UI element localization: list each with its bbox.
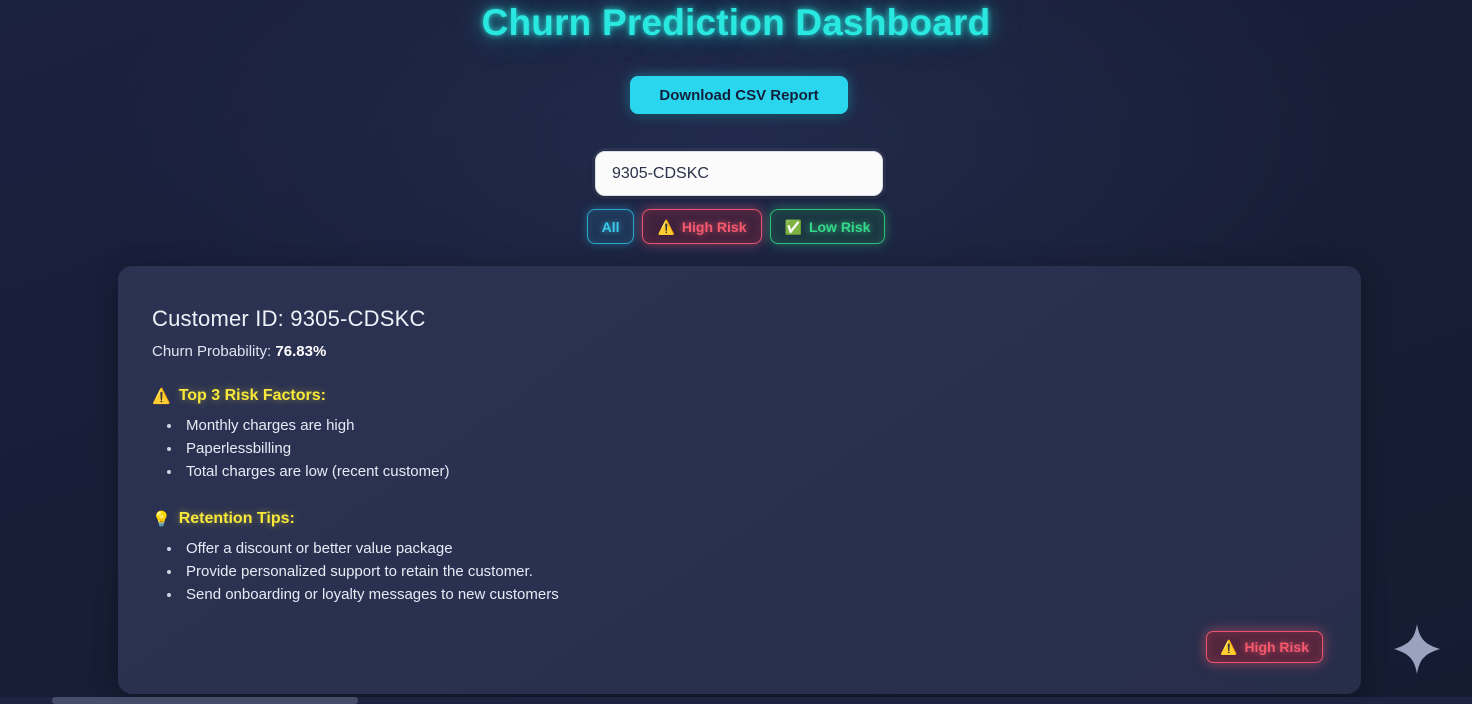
risk-filter-group: All ⚠️ High Risk ✅ Low Risk bbox=[0, 209, 1472, 244]
list-item: Send onboarding or loyalty messages to n… bbox=[182, 583, 1361, 606]
filter-low-risk-button[interactable]: ✅ Low Risk bbox=[770, 209, 886, 244]
list-item: Provide personalized support to retain t… bbox=[182, 560, 1361, 583]
filter-high-risk-label: High Risk bbox=[682, 219, 747, 235]
check-mark-icon: ✅ bbox=[785, 220, 802, 234]
filter-high-risk-button[interactable]: ⚠️ High Risk bbox=[642, 209, 761, 244]
filter-all-button[interactable]: All bbox=[587, 209, 635, 244]
churn-probability-value: 76.83% bbox=[275, 343, 326, 360]
retention-tips-heading: 💡 Retention Tips: bbox=[152, 510, 1361, 528]
warning-icon: ⚠️ bbox=[152, 387, 171, 405]
horizontal-scrollbar-track[interactable] bbox=[0, 697, 1472, 704]
risk-factors-list: Monthly charges are high Paperlessbillin… bbox=[182, 414, 1361, 483]
list-item: Total charges are low (recent customer) bbox=[182, 460, 1361, 483]
customer-id-search-input[interactable] bbox=[595, 151, 883, 196]
list-item: Monthly charges are high bbox=[182, 414, 1361, 437]
retention-tips-list: Offer a discount or better value package… bbox=[182, 537, 1361, 606]
customer-result-card: Customer ID: 9305-CDSKC Churn Probabilit… bbox=[118, 266, 1361, 694]
dashboard-page: Churn Prediction Dashboard Download CSV … bbox=[0, 0, 1472, 704]
light-bulb-icon: 💡 bbox=[152, 510, 171, 528]
customer-id-heading: Customer ID: 9305-CDSKC bbox=[152, 306, 1361, 332]
download-csv-report-button[interactable]: Download CSV Report bbox=[630, 76, 848, 114]
sparkle-icon bbox=[1392, 622, 1442, 676]
status-badge: ⚠️ High Risk bbox=[1206, 631, 1323, 663]
retention-tips-heading-label: Retention Tips: bbox=[179, 510, 295, 528]
list-item: Paperlessbilling bbox=[182, 437, 1361, 460]
churn-probability-row: Churn Probability: 76.83% bbox=[152, 343, 1361, 360]
filter-all-label: All bbox=[602, 219, 620, 235]
status-badge-label: High Risk bbox=[1244, 639, 1309, 655]
churn-probability-label: Churn Probability: bbox=[152, 343, 271, 360]
warning-icon: ⚠️ bbox=[1220, 639, 1237, 656]
filter-low-risk-label: Low Risk bbox=[809, 219, 870, 235]
horizontal-scrollbar-thumb[interactable] bbox=[52, 697, 358, 704]
risk-factors-heading-label: Top 3 Risk Factors: bbox=[179, 387, 326, 405]
warning-icon: ⚠️ bbox=[657, 220, 674, 234]
list-item: Offer a discount or better value package bbox=[182, 537, 1361, 560]
page-title: Churn Prediction Dashboard bbox=[0, 2, 1472, 44]
risk-factors-heading: ⚠️ Top 3 Risk Factors: bbox=[152, 387, 1361, 405]
